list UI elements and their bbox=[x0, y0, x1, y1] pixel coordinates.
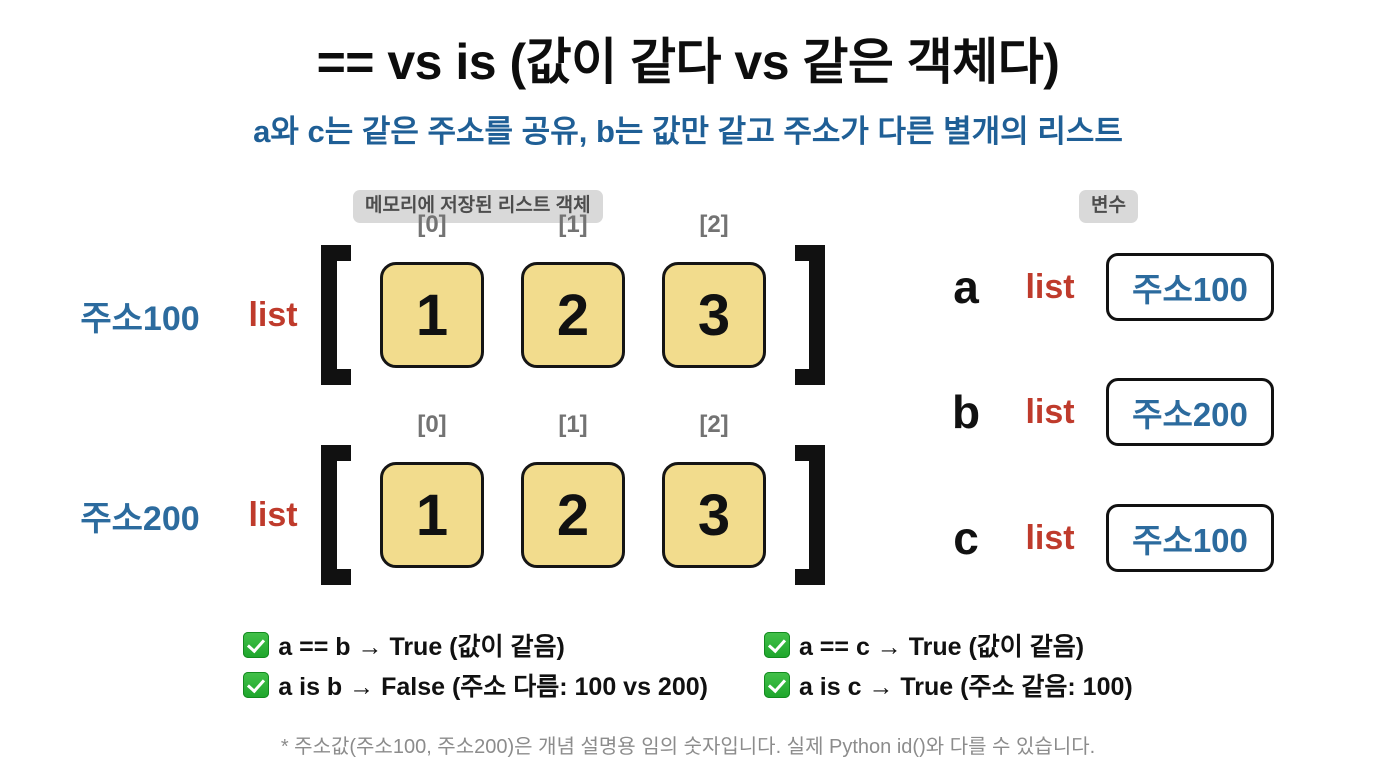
results-section: a == b → True (값이 같음) a is b → False (주소… bbox=[0, 628, 1376, 701]
memory-type-label: list bbox=[225, 296, 321, 335]
list-cell-wrapper: [0] 1 bbox=[374, 462, 490, 568]
list-cell-wrapper: [2] 3 bbox=[656, 262, 772, 368]
right-bracket-icon bbox=[791, 245, 825, 385]
variable-address-box: 주소200 bbox=[1106, 378, 1274, 446]
result-line: a is c → True (주소 같음: 100) bbox=[764, 668, 1133, 701]
list-cell-wrapper: [1] 2 bbox=[515, 262, 631, 368]
check-icon bbox=[764, 672, 790, 698]
variable-row-a: a list 주소100 bbox=[930, 248, 1274, 326]
variable-type: list bbox=[1002, 393, 1098, 432]
list-cell: 3 bbox=[662, 462, 766, 568]
result-line: a == c → True (값이 같음) bbox=[764, 628, 1133, 661]
variable-type: list bbox=[1002, 268, 1098, 307]
result-text: a is b → False (주소 다름: 100 vs 200) bbox=[278, 667, 708, 703]
left-bracket-icon bbox=[321, 245, 355, 385]
list-cell: 2 bbox=[521, 262, 625, 368]
variable-row-c: c list 주소100 bbox=[930, 499, 1274, 577]
variable-name: a bbox=[930, 260, 1002, 314]
check-icon bbox=[764, 632, 790, 658]
result-line: a is b → False (주소 다름: 100 vs 200) bbox=[243, 668, 708, 701]
result-text: a is c → True (주소 같음: 100) bbox=[799, 667, 1133, 703]
cell-index-label: [1] bbox=[515, 411, 631, 439]
footnote: * 주소값(주소100, 주소200)은 개념 설명용 임의 숫자입니다. 실제… bbox=[0, 730, 1376, 759]
list-cell-wrapper: [0] 1 bbox=[374, 262, 490, 368]
list-cells: [0] 1 [1] 2 [2] 3 bbox=[374, 462, 772, 568]
results-column-right: a == c → True (값이 같음) a is c → True (주소 … bbox=[764, 628, 1133, 701]
check-icon bbox=[243, 672, 269, 698]
left-bracket-icon bbox=[321, 445, 355, 585]
variable-name: c bbox=[930, 511, 1002, 565]
list-cell-wrapper: [2] 3 bbox=[656, 462, 772, 568]
list-cell: 1 bbox=[380, 262, 484, 368]
result-line: a == b → True (값이 같음) bbox=[243, 628, 708, 661]
check-icon bbox=[243, 632, 269, 658]
list-cell: 1 bbox=[380, 462, 484, 568]
page-title: == vs is (값이 같다 vs 같은 객체다) bbox=[0, 22, 1376, 94]
result-text: a == c → True (값이 같음) bbox=[799, 627, 1084, 663]
cell-index-label: [0] bbox=[374, 411, 490, 439]
variable-address-box: 주소100 bbox=[1106, 253, 1274, 321]
memory-address-label: 주소200 bbox=[55, 491, 225, 540]
variable-type: list bbox=[1002, 519, 1098, 558]
variable-address-box: 주소100 bbox=[1106, 504, 1274, 572]
cell-index-label: [2] bbox=[656, 211, 772, 239]
list-cell: 3 bbox=[662, 262, 766, 368]
memory-row: 주소100 list [0] 1 [1] 2 [2] 3 bbox=[55, 245, 825, 385]
variable-row-b: b list 주소200 bbox=[930, 373, 1274, 451]
slide-canvas: == vs is (값이 같다 vs 같은 객체다) a와 c는 같은 주소를 … bbox=[0, 0, 1376, 768]
variable-name: b bbox=[930, 385, 1002, 439]
memory-type-label: list bbox=[225, 496, 321, 535]
cell-index-label: [1] bbox=[515, 211, 631, 239]
list-cell: 2 bbox=[521, 462, 625, 568]
cell-index-label: [2] bbox=[656, 411, 772, 439]
result-text: a == b → True (값이 같음) bbox=[278, 627, 565, 663]
right-bracket-icon bbox=[791, 445, 825, 585]
list-cell-wrapper: [1] 2 bbox=[515, 462, 631, 568]
cell-index-label: [0] bbox=[374, 211, 490, 239]
list-cells: [0] 1 [1] 2 [2] 3 bbox=[374, 262, 772, 368]
memory-row: 주소200 list [0] 1 [1] 2 [2] 3 bbox=[55, 445, 825, 585]
variables-section-badge: 변수 bbox=[1079, 190, 1138, 223]
memory-address-label: 주소100 bbox=[55, 291, 225, 340]
page-subtitle: a와 c는 같은 주소를 공유, b는 값만 같고 주소가 다른 별개의 리스트 bbox=[0, 106, 1376, 151]
results-column-left: a == b → True (값이 같음) a is b → False (주소… bbox=[243, 628, 708, 701]
